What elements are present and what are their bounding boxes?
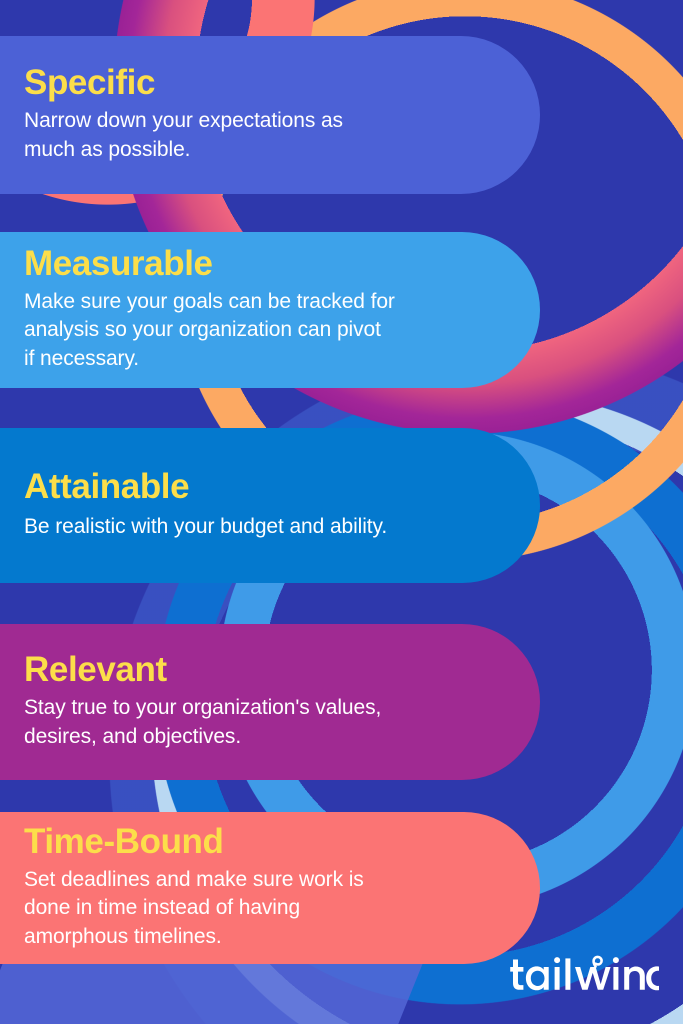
card-relevant-title: Relevant (24, 650, 480, 690)
card-measurable-body: Make sure your goals can be tracked for … (24, 288, 480, 375)
card-measurable: Measurable Make sure your goals can be t… (0, 232, 540, 388)
card-relevant-body: Stay true to your organization's values,… (24, 694, 480, 752)
tailwind-logo (507, 950, 659, 996)
card-measurable-title: Measurable (24, 244, 480, 284)
smart-goals-infographic: Specific Narrow down your expectations a… (0, 0, 683, 1024)
card-attainable-body: Be realistic with your budget and abilit… (24, 513, 480, 542)
tailwind-wordmark-icon (507, 950, 659, 996)
card-time-bound: Time-Bound Set deadlines and make sure w… (0, 812, 540, 964)
card-attainable: Attainable Be realistic with your budget… (0, 428, 540, 583)
card-attainable-title: Attainable (24, 467, 480, 507)
card-specific: Specific Narrow down your expectations a… (0, 36, 540, 194)
card-time-bound-title: Time-Bound (24, 822, 480, 862)
smart-cards-list: Specific Narrow down your expectations a… (0, 0, 683, 1024)
card-specific-title: Specific (24, 63, 480, 103)
card-specific-body: Narrow down your expectations as much as… (24, 107, 480, 165)
card-relevant: Relevant Stay true to your organization'… (0, 624, 540, 780)
card-time-bound-body: Set deadlines and make sure work is done… (24, 866, 480, 953)
